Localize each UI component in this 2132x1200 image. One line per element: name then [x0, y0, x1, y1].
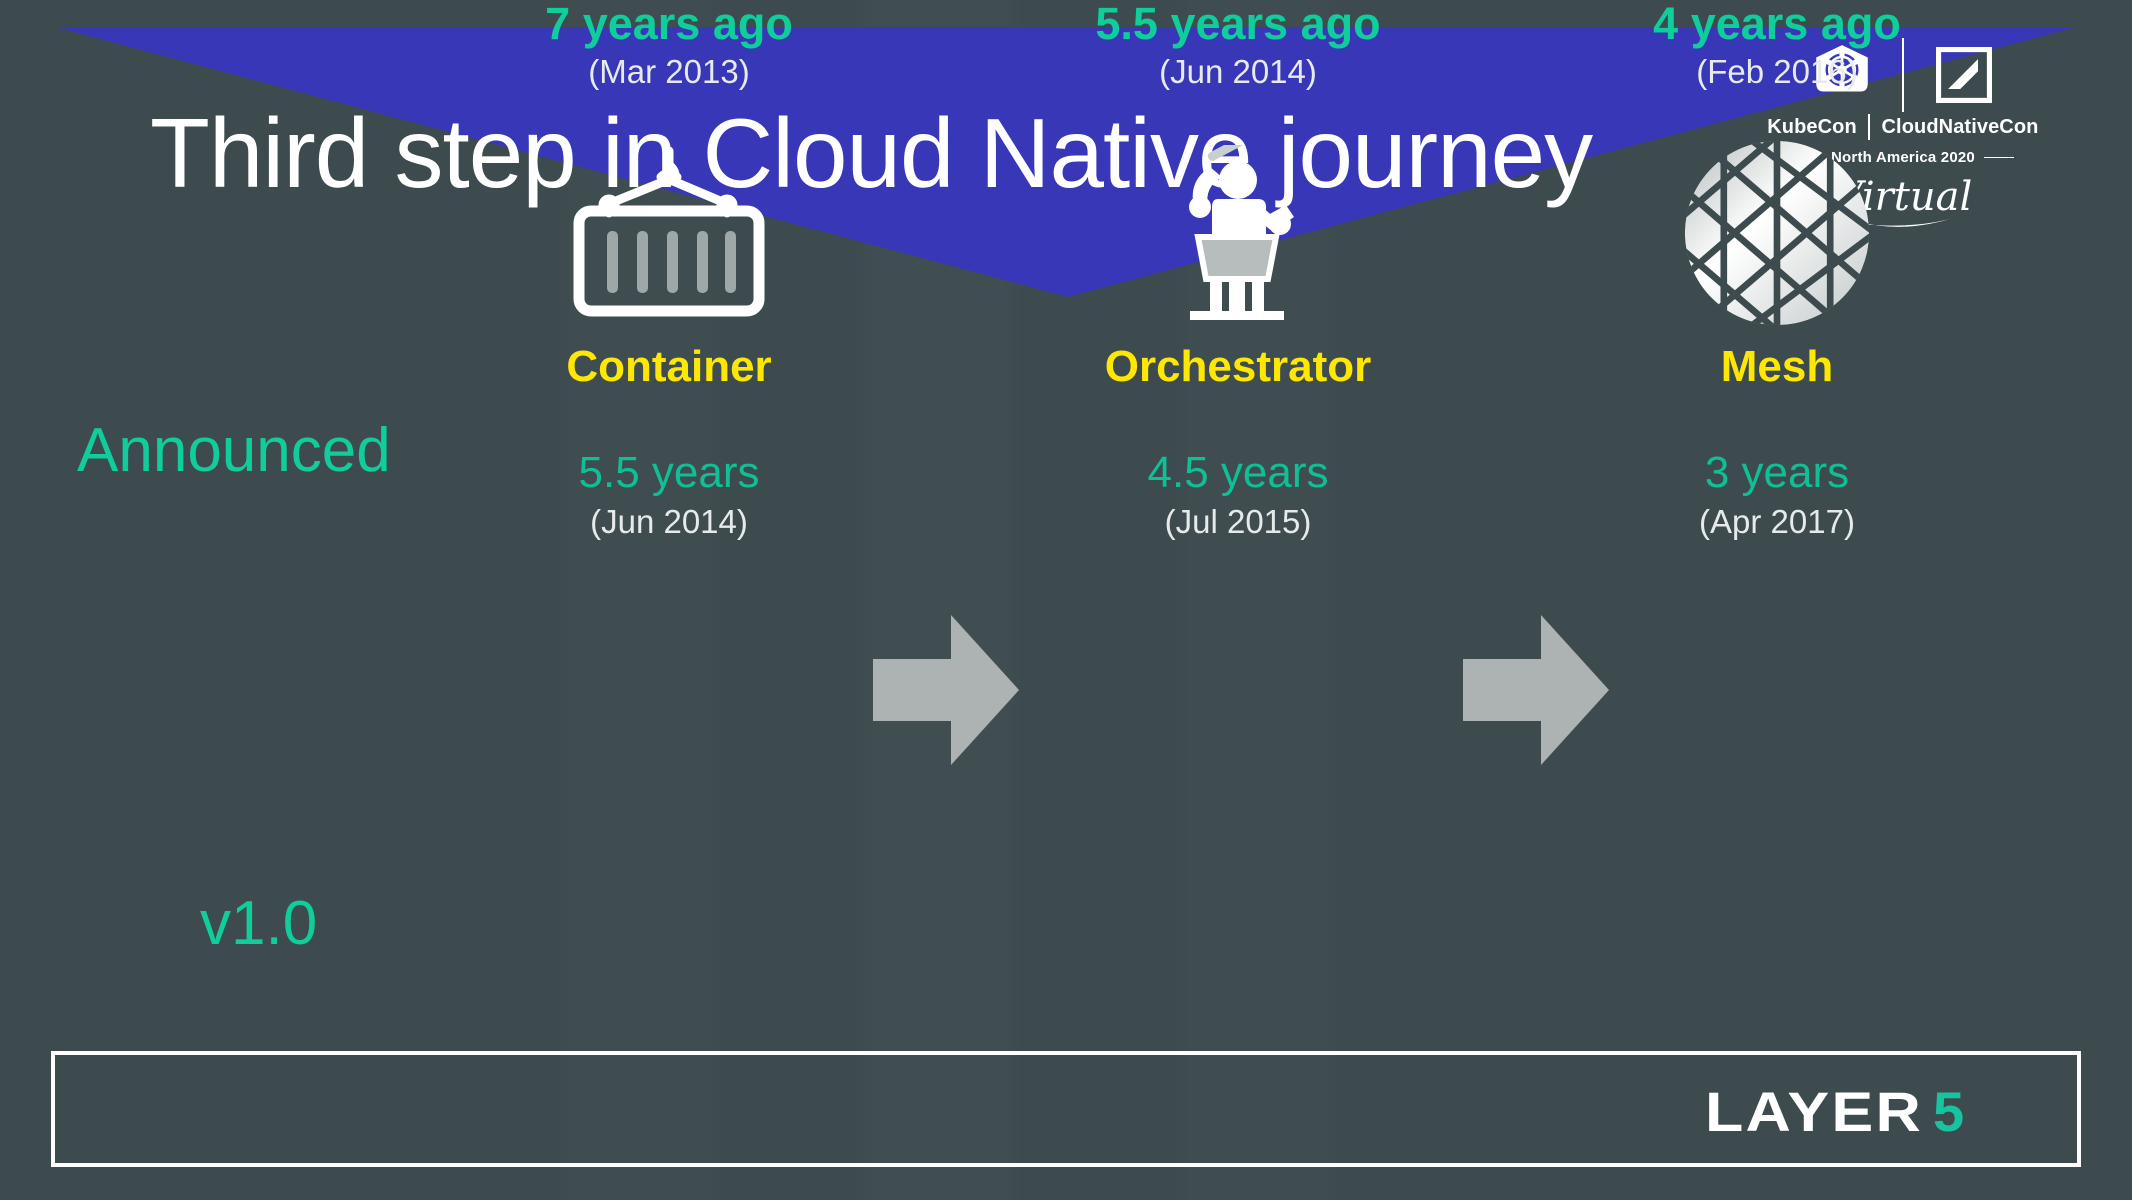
- row-label-version: v1.0: [200, 888, 317, 959]
- region-rule-right: [1984, 157, 2014, 159]
- service-mesh-circle-icon: [1577, 143, 1977, 323]
- release-years: 3 years: [1577, 451, 1977, 495]
- tech-name: Mesh: [1577, 345, 1977, 389]
- layer5-wordmark-suffix: 5: [1933, 1085, 1964, 1141]
- announced-date: (Feb 2016): [1577, 53, 1977, 91]
- release-date: (Apr 2017): [1577, 503, 1977, 541]
- timeline-column-mesh: 4 years ago (Feb 2016): [1577, 0, 1977, 541]
- announced-years: 7 years ago: [469, 0, 869, 47]
- shipping-container-icon: [469, 143, 869, 323]
- tech-name: Orchestrator: [1038, 345, 1438, 389]
- announced-years: 5.5 years ago: [1038, 0, 1438, 47]
- layer5-logo: LAYER 5: [1705, 1085, 2005, 1146]
- timeline-column-container: 7 years ago (Mar 2013): [469, 0, 869, 541]
- release-years: 5.5 years: [469, 451, 869, 495]
- release-date: (Jul 2015): [1038, 503, 1438, 541]
- row-label-announced: Announced: [77, 415, 391, 486]
- release-years: 4.5 years: [1038, 451, 1438, 495]
- tech-name: Container: [469, 345, 869, 389]
- conductor-orchestrator-icon: [1038, 143, 1438, 323]
- release-date: (Jun 2014): [469, 503, 869, 541]
- announced-years: 4 years ago: [1577, 0, 1977, 47]
- layer5-wordmark-prefix: LAYER: [1705, 1085, 1923, 1141]
- announced-date: (Mar 2013): [469, 53, 869, 91]
- right-arrow-icon: [873, 615, 1019, 770]
- timeline-column-orchestrator: 5.5 years ago (Jun 2014): [1038, 0, 1438, 541]
- announced-date: (Jun 2014): [1038, 53, 1438, 91]
- footer-bar: LAYER 5: [51, 1051, 2081, 1167]
- slide-root: Third step in Cloud Native journey: [0, 0, 2132, 1200]
- right-arrow-icon: [1463, 615, 1609, 770]
